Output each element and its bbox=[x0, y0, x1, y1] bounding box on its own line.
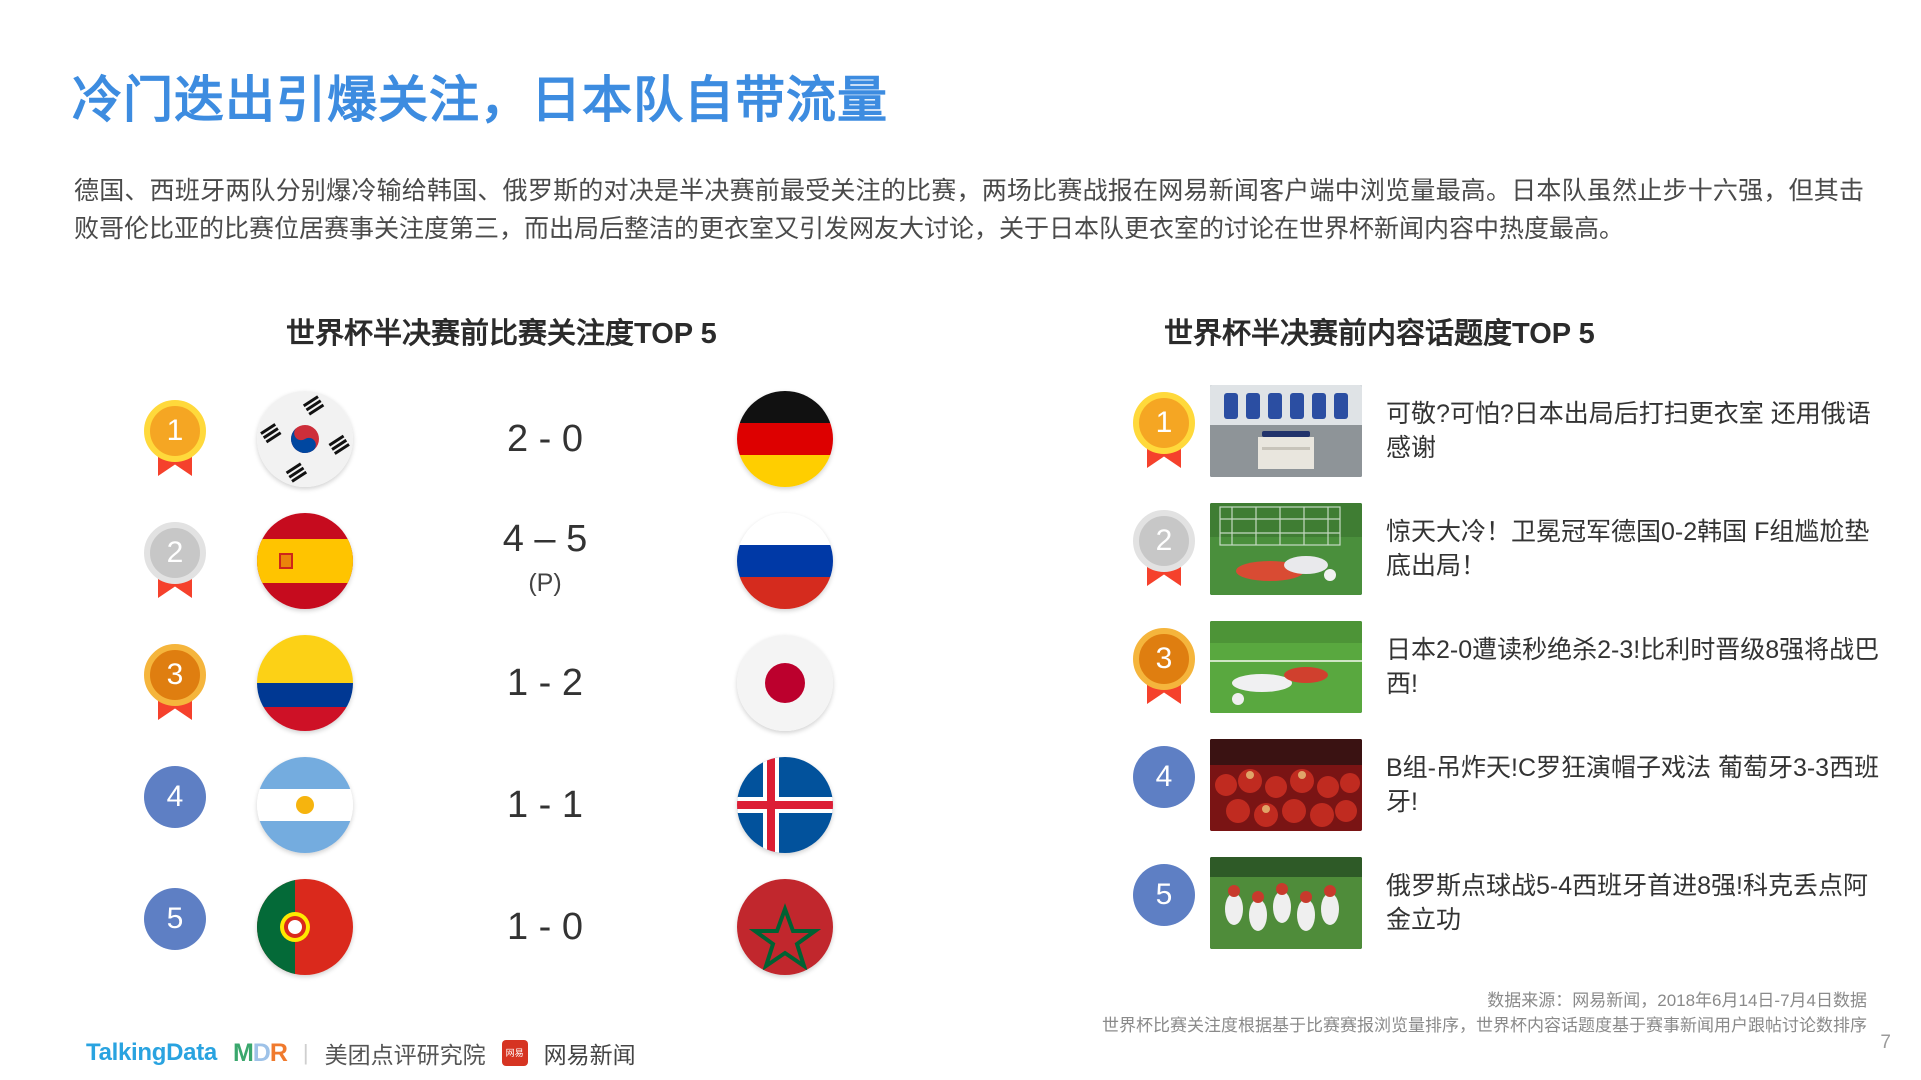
flag-portugal-icon bbox=[257, 879, 353, 975]
table-row: 5 1 - 0 bbox=[120, 866, 860, 988]
rank-cell: 1 bbox=[120, 400, 230, 478]
table-row: 1 bbox=[120, 378, 860, 500]
red-crowd-photo bbox=[1210, 739, 1362, 831]
score-text: 4 – 5 bbox=[503, 518, 588, 560]
celebration-photo bbox=[1210, 857, 1362, 949]
score-text: 1 - 1 bbox=[507, 784, 583, 826]
netease-icon: 网易 bbox=[502, 1040, 528, 1066]
list-item[interactable]: 1 可敬?可怕?日本出局后打扫更衣室 还用俄语感谢 bbox=[1118, 382, 1888, 480]
rank-cell: 4 bbox=[1118, 746, 1210, 824]
home-flag-cell bbox=[230, 635, 380, 731]
medal-badge-bronze: 3 bbox=[144, 644, 206, 722]
score-text: 2 - 0 bbox=[507, 418, 583, 460]
score-cell: 2 - 0 bbox=[380, 418, 710, 460]
medal-badge-gold: 1 bbox=[144, 400, 206, 478]
methodology-line: 世界杯比赛关注度根据基于比赛赛报浏览量排序，世界杯内容话题度基于赛事新闻用户跟帖… bbox=[1102, 1013, 1867, 1038]
table-row: 4 1 - 1 bbox=[120, 744, 860, 866]
rank-number: 5 bbox=[1133, 864, 1195, 926]
medal-badge-bronze: 3 bbox=[1133, 628, 1195, 706]
medal-badge-gold: 1 bbox=[1133, 392, 1195, 470]
rank-cell: 2 bbox=[120, 522, 230, 600]
talkingdata-logo: TalkingData bbox=[86, 1039, 217, 1067]
list-item[interactable]: 3 日本2-0遭读秒绝杀2-3!比利时晋级8强将战巴西! bbox=[1118, 618, 1888, 716]
page-number: 7 bbox=[1880, 1032, 1891, 1054]
slide-root: 冷门迭出引爆关注，日本队自带流量 德国、西班牙两队分别爆冷输给韩国、俄罗斯的对决… bbox=[0, 0, 1921, 1080]
news-title: 惊天大冷！卫冕冠军德国0-2韩国 F组尴尬垫底出局！ bbox=[1362, 515, 1888, 583]
score-cell: 1 - 2 bbox=[380, 662, 710, 704]
table-row: 3 1 - 2 bbox=[120, 622, 860, 744]
away-flag-cell bbox=[710, 879, 860, 975]
score-cell: 1 - 1 bbox=[380, 784, 710, 826]
rank-badge-plain: 4 bbox=[1133, 746, 1195, 824]
mdr-logo-m: M bbox=[233, 1039, 253, 1067]
list-item[interactable]: 5 俄罗斯点球战5-4西班牙首进8强!科克丢点阿金立功 bbox=[1118, 854, 1888, 952]
news-title: B组-吊炸天!C罗狂演帽子戏法 葡萄牙3-3西班牙! bbox=[1362, 751, 1888, 819]
score-text: 1 - 2 bbox=[507, 662, 583, 704]
match-ranking-list: 1 bbox=[120, 378, 860, 988]
flag-spain-icon bbox=[257, 513, 353, 609]
medal-badge-silver: 2 bbox=[144, 522, 206, 600]
list-item[interactable]: 2 惊天大冷！卫冕冠军德国0-2韩国 F组尴尬垫底出局！ bbox=[1118, 500, 1888, 598]
medal-badge-silver: 2 bbox=[1133, 510, 1195, 588]
score-text: 1 - 0 bbox=[507, 906, 583, 948]
rank-number: 3 bbox=[144, 644, 206, 706]
score-cell: 4 – 5 (P) bbox=[380, 518, 710, 604]
news-title: 日本2-0遭读秒绝杀2-3!比利时晋级8强将战巴西! bbox=[1362, 633, 1888, 701]
rank-number: 1 bbox=[1133, 392, 1195, 454]
rank-cell: 3 bbox=[120, 644, 230, 722]
rank-number: 2 bbox=[144, 522, 206, 584]
home-flag-cell bbox=[230, 879, 380, 975]
footnote-block: 数据来源：网易新闻，2018年6月14日-7月4日数据 世界杯比赛关注度根据基于… bbox=[1102, 988, 1867, 1038]
mdr-logo-r: R bbox=[270, 1039, 287, 1067]
netease-news-logo: 网易新闻 bbox=[544, 1036, 636, 1070]
flag-colombia-icon bbox=[257, 635, 353, 731]
list-item[interactable]: 4 B组-吊炸天!C罗狂演帽子戏法 葡萄牙3-3西班牙! bbox=[1118, 736, 1888, 834]
rank-badge-plain: 4 bbox=[144, 766, 206, 844]
rank-number: 3 bbox=[1133, 628, 1195, 690]
news-title: 俄罗斯点球战5-4西班牙首进8强!科克丢点阿金立功 bbox=[1362, 869, 1888, 937]
mdr-logo-d: D bbox=[253, 1039, 270, 1067]
players-on-pitch-photo bbox=[1210, 621, 1362, 713]
away-flag-cell bbox=[710, 757, 860, 853]
flag-argentina-icon bbox=[257, 757, 353, 853]
page-title: 冷门迭出引爆关注，日本队自带流量 bbox=[72, 60, 888, 132]
mdr-logo: MDR bbox=[233, 1039, 287, 1068]
rank-cell: 3 bbox=[1118, 628, 1210, 706]
rank-cell: 5 bbox=[120, 888, 230, 966]
data-source-line: 数据来源：网易新闻，2018年6月14日-7月4日数据 bbox=[1102, 988, 1867, 1013]
rank-number: 4 bbox=[144, 766, 206, 828]
rank-cell: 4 bbox=[120, 766, 230, 844]
rank-number: 1 bbox=[144, 400, 206, 462]
flag-south-korea-icon bbox=[257, 391, 353, 487]
left-section-header: 世界杯半决赛前比赛关注度TOP 5 bbox=[286, 310, 717, 352]
rank-cell: 2 bbox=[1118, 510, 1210, 588]
news-title: 可敬?可怕?日本出局后打扫更衣室 还用俄语感谢 bbox=[1362, 397, 1888, 465]
logo-bar: TalkingData MDR | 美团点评研究院 网易 网易新闻 bbox=[86, 1036, 636, 1070]
right-section-header: 世界杯半决赛前内容话题度TOP 5 bbox=[1164, 310, 1595, 352]
flag-iceland-icon bbox=[737, 757, 833, 853]
home-flag-cell bbox=[230, 513, 380, 609]
flag-germany-icon bbox=[737, 391, 833, 487]
rank-badge-plain: 5 bbox=[1133, 864, 1195, 942]
rank-number: 4 bbox=[1133, 746, 1195, 808]
away-flag-cell bbox=[710, 391, 860, 487]
home-flag-cell bbox=[230, 757, 380, 853]
goal-save-photo bbox=[1210, 503, 1362, 595]
logo-divider: | bbox=[303, 1040, 309, 1066]
flag-japan-icon bbox=[737, 635, 833, 731]
rank-cell: 5 bbox=[1118, 864, 1210, 942]
penalty-note: (P) bbox=[380, 562, 710, 604]
away-flag-cell bbox=[710, 635, 860, 731]
score-cell: 1 - 0 bbox=[380, 906, 710, 948]
home-flag-cell bbox=[230, 391, 380, 487]
flag-russia-icon bbox=[737, 513, 833, 609]
away-flag-cell bbox=[710, 513, 860, 609]
meituan-research-logo: 美团点评研究院 bbox=[325, 1036, 486, 1070]
news-ranking-list: 1 可敬?可怕?日本出局后打扫更衣室 还用俄语感谢 2 bbox=[1118, 382, 1888, 972]
intro-paragraph: 德国、西班牙两队分别爆冷输给韩国、俄罗斯的对决是半决赛前最受关注的比赛，两场比赛… bbox=[74, 172, 1864, 248]
rank-number: 2 bbox=[1133, 510, 1195, 572]
rank-number: 5 bbox=[144, 888, 206, 950]
rank-cell: 1 bbox=[1118, 392, 1210, 470]
table-row: 2 4 – 5 (P) bbox=[120, 500, 860, 622]
locker-room-photo bbox=[1210, 385, 1362, 477]
rank-badge-plain: 5 bbox=[144, 888, 206, 966]
flag-morocco-icon bbox=[737, 879, 833, 975]
